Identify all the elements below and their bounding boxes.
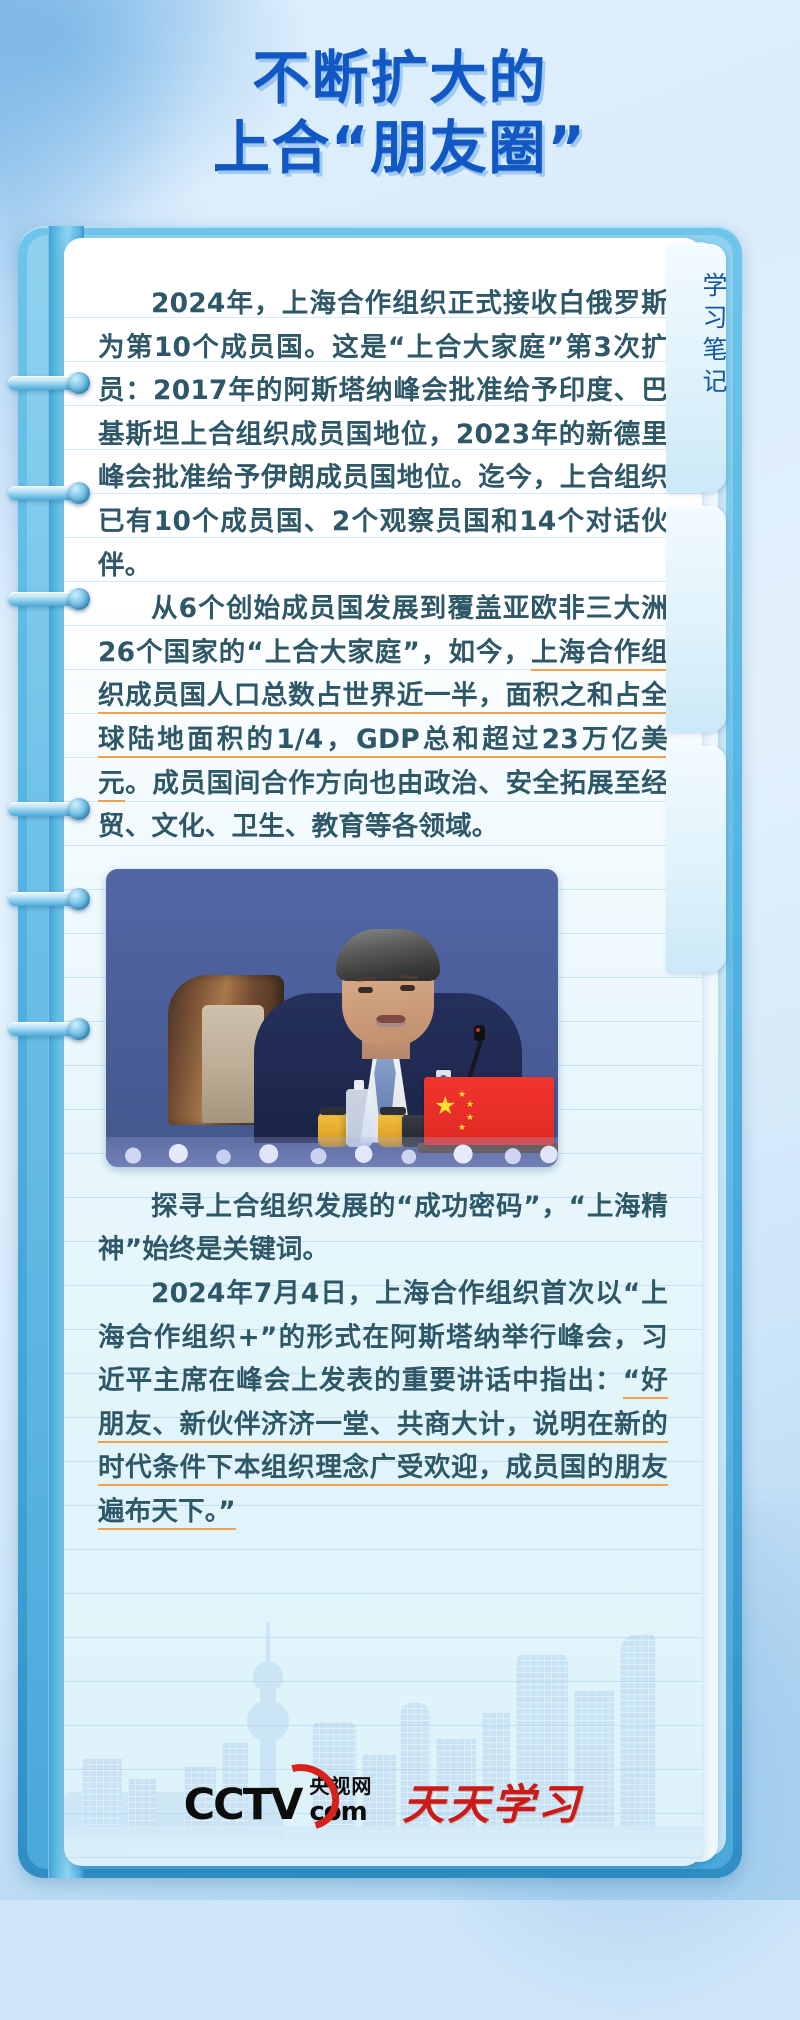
summit-photo-image: ★ ★ ★ ★ ★ bbox=[106, 869, 558, 1167]
flag-star-small: ★ bbox=[458, 1090, 466, 1099]
photo-person-mouth bbox=[376, 1015, 406, 1027]
tab-study-notes-label: 学习笔记 bbox=[666, 272, 726, 400]
flag-star-small: ★ bbox=[466, 1100, 474, 1109]
paragraph-2-run-3: 。成员国间合作方向也由政治、安全拓展至经贸、文化、卫生、教育等各领域。 bbox=[98, 768, 668, 843]
notebook-page: 2024年，上海合作组织正式接收白俄罗斯为第10个成员国。这是“上合大家庭”第3… bbox=[64, 238, 702, 1866]
paragraph-2: 从6个创始成员国发展到覆盖亚欧非三大洲26个国家的“上合大家庭”，如今，上海合作… bbox=[98, 587, 668, 849]
paragraph-3: 探寻上合组织发展的“成功密码”，“上海精神”始终是关键词。 bbox=[98, 1185, 668, 1272]
tab-strip: 学习笔记 bbox=[666, 244, 726, 986]
photo-person-eye-right bbox=[400, 985, 415, 991]
page-title-line-2: 上合“朋友圈” bbox=[213, 114, 587, 184]
paragraph-3-run-1: 探寻上合组织发展的“成功密码”，“上海精神”始终是关键词。 bbox=[98, 1191, 668, 1266]
paragraph-4: 2024年7月4日，上海合作组织首次以“上海合作组织+”的形式在阿斯塔纳举行峰会… bbox=[98, 1272, 668, 1534]
brand-logo-tiantianxuexi: 天天学习 bbox=[402, 1771, 582, 1832]
paragraph-1: 2024年，上海合作组织正式接收白俄罗斯为第10个成员国。这是“上合大家庭”第3… bbox=[98, 282, 668, 587]
page-title-line-1: 不断扩大的 bbox=[253, 44, 548, 114]
notebook: 学习笔记 bbox=[18, 226, 742, 1878]
tab-study-notes[interactable]: 学习笔记 bbox=[666, 244, 726, 492]
flag-star-large: ★ bbox=[434, 1094, 456, 1119]
paragraph-4-run-1: 2024年7月4日，上海合作组织首次以“上海合作组织+”的形式在阿斯塔纳举行峰会… bbox=[98, 1278, 668, 1396]
article-body: 2024年，上海合作组织正式接收白俄罗斯为第10个成员国。这是“上合大家庭”第3… bbox=[64, 238, 702, 1866]
page-header: 不断扩大的 上合“朋友圈” bbox=[0, 0, 800, 228]
summit-photo: ★ ★ ★ ★ ★ bbox=[106, 869, 558, 1167]
footer-logos: CCTV 央视网 com 天天学习 bbox=[64, 1762, 702, 1840]
photo-microphone-head bbox=[474, 1025, 485, 1041]
flag-star-small: ★ bbox=[458, 1123, 466, 1132]
flag-star-small: ★ bbox=[466, 1113, 474, 1122]
photo-flower-arrangement bbox=[106, 1137, 558, 1167]
paragraph-1-run-1: 2024年，上海合作组织正式接收白俄罗斯为第10个成员国。这是“上合大家庭”第3… bbox=[98, 288, 668, 581]
photo-person-eye-left bbox=[358, 987, 373, 993]
tab-tertiary[interactable] bbox=[666, 746, 726, 972]
tab-secondary[interactable] bbox=[666, 506, 726, 732]
cctv-logo: CCTV 央视网 com bbox=[184, 1777, 373, 1825]
